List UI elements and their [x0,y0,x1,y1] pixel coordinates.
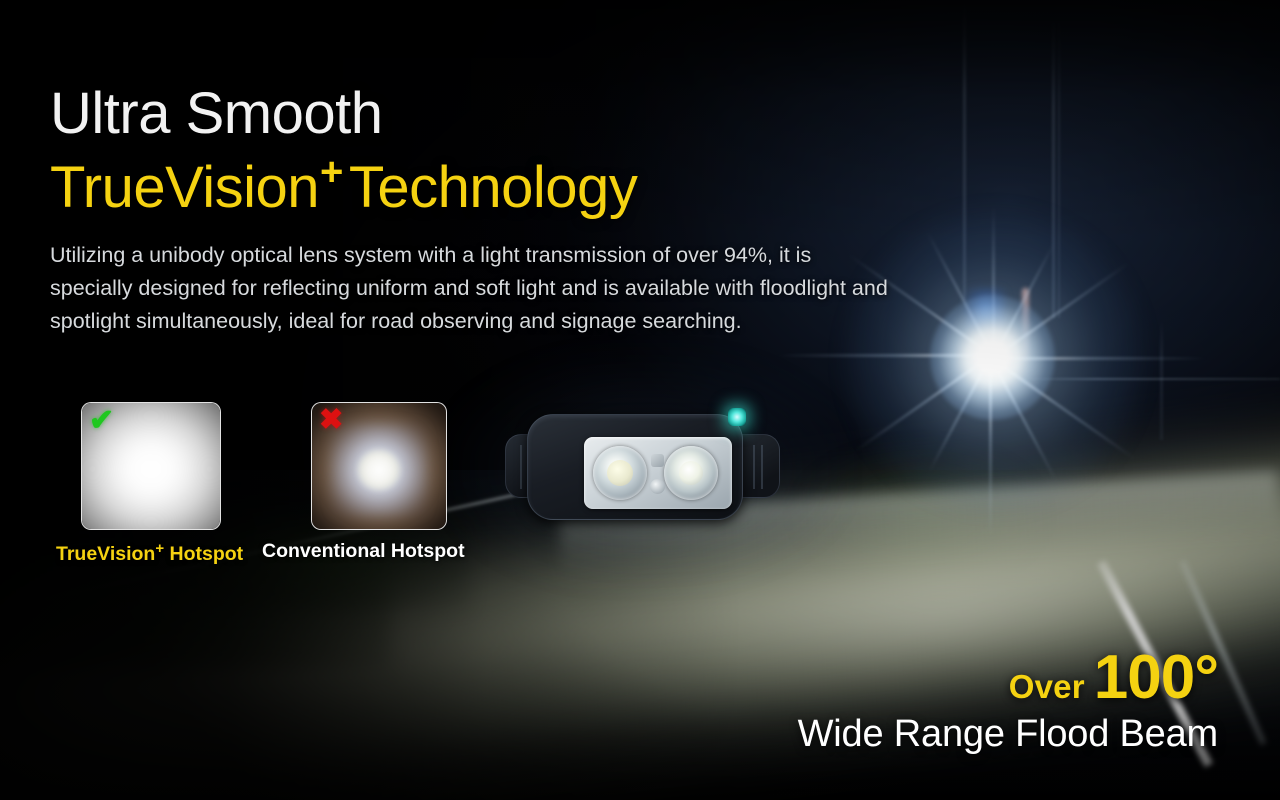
page-title: Ultra Smooth [50,84,920,144]
spot-lens [664,446,718,500]
headlamp-body [527,414,743,520]
page-subtitle: TrueVision+Technology [50,150,920,221]
cross-icon: ✖ [319,406,343,435]
subtitle-suffix: Technology [349,155,637,220]
conventional-hotspot-panel: ✖ [311,402,447,530]
caption-suffix: Hotspot [164,543,243,565]
plus-superscript-icon: + [320,150,343,195]
beam-angle-value: 100° [1094,643,1218,712]
utility-pole-icon [1058,18,1060,318]
body-paragraph: Utilizing a unibody optical lens system … [50,239,896,337]
utility-pole-icon [963,0,966,300]
sensor-dot-icon [650,479,665,494]
copy-block: Ultra Smooth TrueVision+Technology Utili… [50,84,920,337]
utility-pole-icon [1052,18,1055,318]
flood-beam-label: Wide Range Flood Beam [798,713,1218,756]
headlamp-lens-plate [584,437,732,509]
motion-sensor-icon [651,454,664,467]
utility-pole-icon [1160,320,1163,440]
foliage [790,440,1050,590]
check-icon: ✔ [89,406,114,436]
power-indicator-led [728,408,746,426]
subtitle-brand: TrueVision [50,155,319,220]
beam-angle-line: Over100° [798,649,1218,706]
caption-brand: TrueVision [56,543,155,565]
conventional-beam-core [358,450,400,490]
headlamp-product-image [505,408,780,526]
over-label: Over [1009,668,1085,705]
truevision-hotspot-caption: TrueVision+ Hotspot [56,540,243,566]
flood-lens [593,446,647,500]
conventional-hotspot-caption: Conventional Hotspot [262,540,465,563]
overhead-wire [1020,378,1280,380]
truevision-hotspot-panel: ✔ [81,402,221,530]
beam-angle-callout: Over100° Wide Range Flood Beam [798,649,1218,756]
roadside-marker-post [1022,288,1029,362]
plus-superscript-icon: + [155,540,164,557]
product-feature-banner: Ultra Smooth TrueVision+Technology Utili… [0,0,1280,800]
